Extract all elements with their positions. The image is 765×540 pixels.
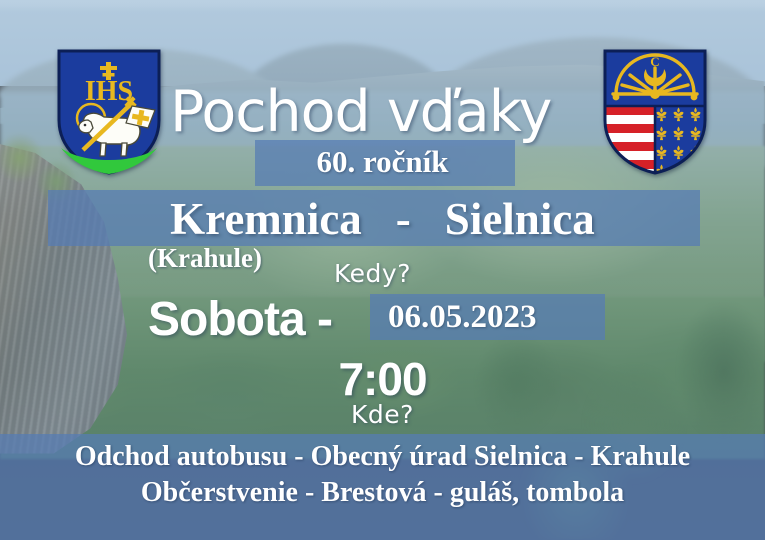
poster: IHS [0,0,765,540]
route-separator: - [362,193,445,245]
poster-day: Sobota - [148,292,332,347]
poster-date: 06.05.2023 [388,299,537,336]
poster-main-title: Pochod vďaky [170,84,551,141]
poster-route: Kremnica-Sielnica [0,193,765,245]
svg-text:C: C [650,54,659,69]
poster-time: 7:00 [0,352,765,406]
svg-text:IHS: IHS [85,76,133,107]
poster-when-label: Kedy? [334,259,411,288]
poster-sub-place: (Krahule) [148,243,262,274]
poster-info-line-2: Občerstvenie - Brestová - guláš, tombola [0,477,765,509]
poster-where-label: Kde? [0,400,765,429]
route-origin: Kremnica [170,194,362,244]
poster-edition: 60. ročník [0,144,765,180]
poster-info-line-1: Odchod autobusu - Obecný úrad Sielnica -… [0,441,765,473]
route-destination: Sielnica [445,194,595,244]
